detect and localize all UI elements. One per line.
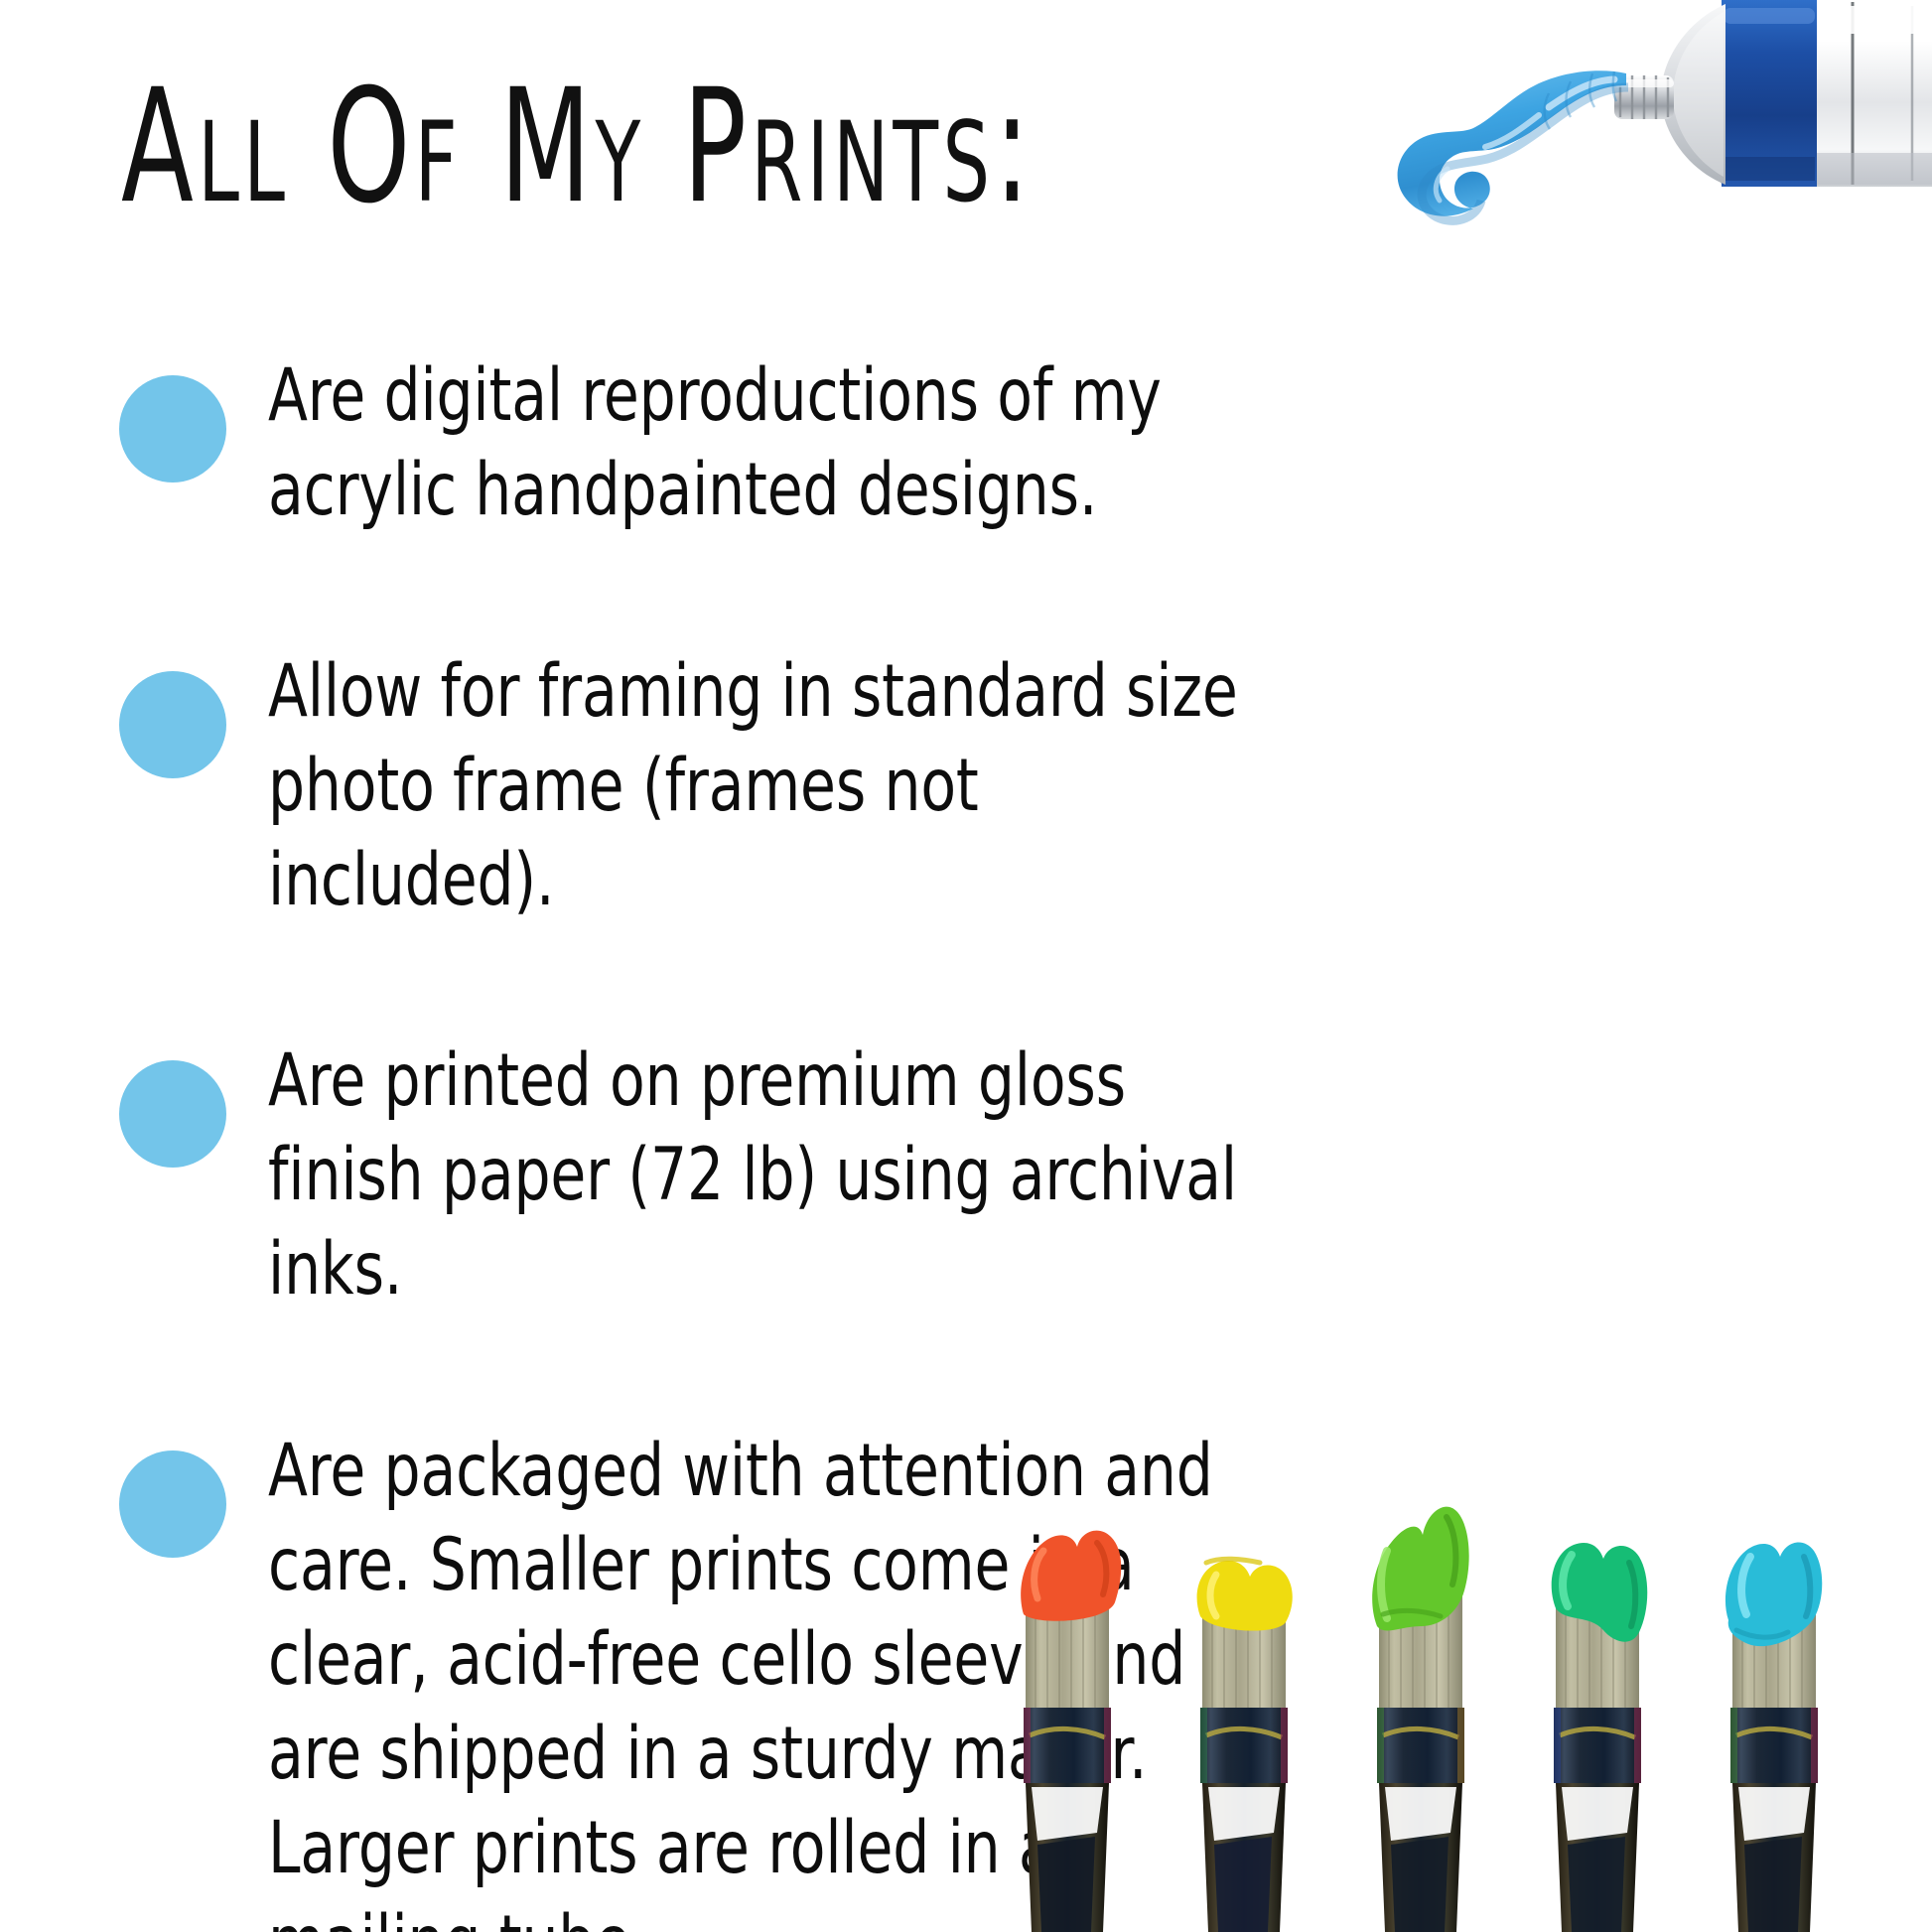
bullet-dot-2 xyxy=(119,594,268,778)
list-item: Allow for framing in standard size photo… xyxy=(119,594,1529,928)
list-item-text: Are digital reproductions of my acrylic … xyxy=(268,298,1277,538)
list-item-text: Are printed on premium gloss finish pape… xyxy=(268,983,1277,1317)
bullet-dot-4 xyxy=(119,1373,268,1558)
list-item-text: Allow for framing in standard size photo… xyxy=(268,594,1277,928)
paint-tube-graphic xyxy=(1316,0,1932,286)
list-item: Are digital reproductions of my acrylic … xyxy=(119,298,1529,538)
tube-neck-icon xyxy=(1614,75,1674,119)
tube-body-icon xyxy=(1719,0,1932,187)
tube-shoulder-icon xyxy=(1661,4,1725,185)
tube-blue-band-icon xyxy=(1722,0,1817,187)
paintbrush-cyan-icon xyxy=(1725,1542,1822,1932)
print-info-card: All Of My Prints: xyxy=(0,0,1932,1932)
list-item: Are printed on premium gloss finish pape… xyxy=(119,983,1529,1317)
paintbrush-emerald-green-icon xyxy=(1552,1543,1648,1932)
blue-paint-squeeze-icon xyxy=(1398,70,1628,220)
bullet-list: Are digital reproductions of my acrylic … xyxy=(119,298,1529,1932)
list-item: Are packaged with attention and care. Sm… xyxy=(119,1373,1529,1932)
bullet-dot-1 xyxy=(119,298,268,483)
bullet-dot-3 xyxy=(119,983,268,1168)
list-item-text: Are packaged with attention and care. Sm… xyxy=(268,1373,1277,1932)
page-title: All Of My Prints: xyxy=(121,62,872,242)
